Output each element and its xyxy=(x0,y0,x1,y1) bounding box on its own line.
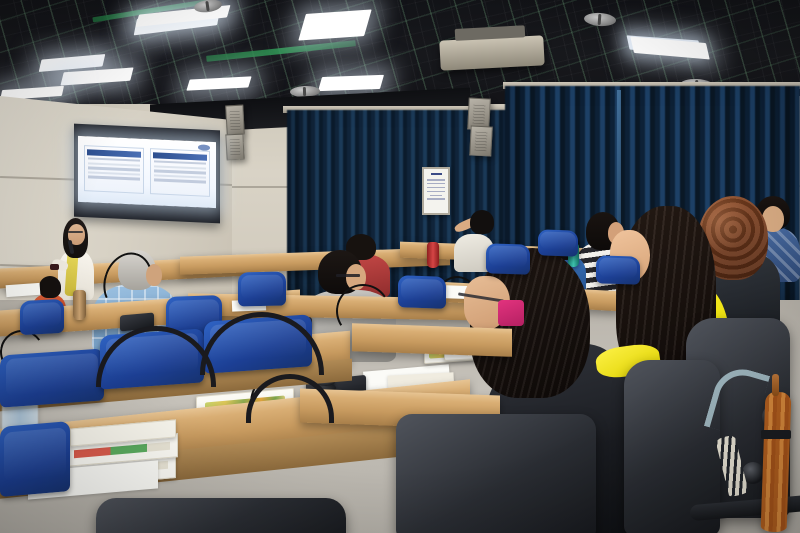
wall-speaker-icon xyxy=(225,105,245,136)
chair-black-office xyxy=(96,498,346,533)
umbrella-orange-tip xyxy=(772,374,779,396)
chair-blue xyxy=(596,255,640,285)
slide-table-row xyxy=(88,167,140,172)
notice-text-line xyxy=(427,187,445,189)
thermos-brown xyxy=(73,290,86,320)
chair-blue xyxy=(20,299,64,335)
notice-text-line xyxy=(430,195,442,197)
chair-blue xyxy=(486,243,530,275)
attendee-hair xyxy=(39,276,61,298)
slide-table-row xyxy=(154,161,206,166)
projection-screen xyxy=(74,124,220,224)
slide-table-row xyxy=(88,171,140,176)
slide-table-header xyxy=(153,152,207,160)
notice-text-line xyxy=(427,191,445,193)
chair-black-office xyxy=(396,414,596,533)
slide-table-header xyxy=(87,149,141,157)
wall-speaker-icon xyxy=(225,134,244,161)
desk-row-right xyxy=(352,323,512,357)
ceiling-projector xyxy=(439,35,544,70)
slide-table-row xyxy=(88,162,140,167)
slide-table-row xyxy=(154,165,206,170)
chair-blue xyxy=(0,348,104,407)
ceiling-light-panel xyxy=(318,75,384,91)
notice-title-line xyxy=(431,173,442,175)
slide-table-row xyxy=(88,176,140,181)
slide-table-row xyxy=(154,170,206,175)
notice-text-line xyxy=(427,198,445,200)
slide-table-row xyxy=(154,179,206,184)
ceiling-light-panel xyxy=(298,9,371,40)
umbrella-strap xyxy=(761,430,791,439)
umbrella-orange xyxy=(761,392,792,533)
slide-table-pane xyxy=(150,148,211,197)
slide-table-row xyxy=(154,174,206,179)
lecture-hall-photo xyxy=(0,0,800,533)
notice-text-line xyxy=(427,179,445,181)
chair-blue xyxy=(238,272,286,307)
thermos-red xyxy=(427,242,439,268)
chair-blue xyxy=(398,275,446,309)
attendee-glasses-icon xyxy=(336,274,360,277)
wall-speaker-icon xyxy=(469,125,493,156)
chair-blue xyxy=(0,421,70,497)
wall-notice-frame xyxy=(422,167,450,215)
projection-screen-surface xyxy=(78,136,216,208)
notice-text-line xyxy=(427,183,445,185)
slide-table-row xyxy=(88,158,140,163)
slide-table-pane xyxy=(84,145,145,194)
chair-blue xyxy=(538,229,578,256)
pink-item xyxy=(498,300,524,326)
presenter-glasses-icon xyxy=(68,231,83,233)
paper-sheet xyxy=(6,283,41,297)
presentation-remote xyxy=(50,264,59,270)
attendee-hair xyxy=(470,210,494,234)
